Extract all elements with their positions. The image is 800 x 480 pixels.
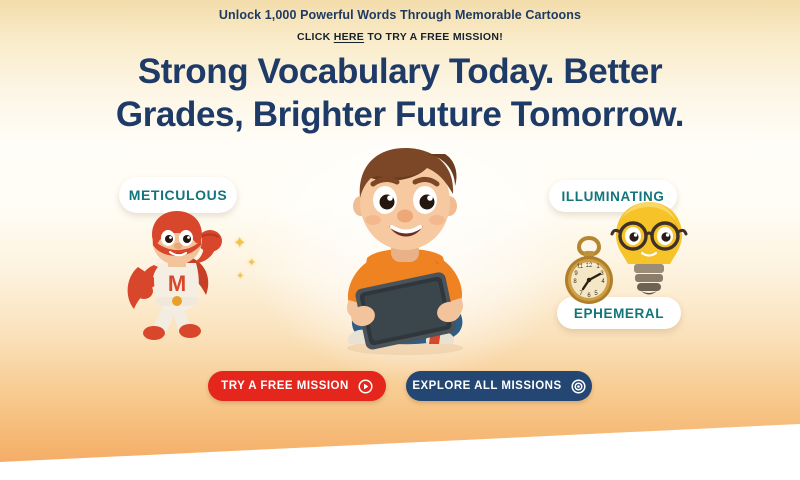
chest-letter: M (168, 271, 186, 296)
sparkle-icon: ✦ (236, 272, 244, 282)
sparkle-icon: ✦ (247, 258, 256, 269)
superhero-mascot-illustration: M (120, 205, 240, 340)
try-a-free-mission-label: TRY A FREE MISSION (221, 380, 349, 392)
lightbulb-with-glasses-illustration (608, 198, 690, 303)
explore-all-missions-label: EXPLORE ALL MISSIONS (412, 380, 561, 392)
click-here-suffix: TO TRY A FREE MISSION! (364, 31, 503, 43)
try-a-free-mission-button[interactable]: TRY A FREE MISSION (208, 371, 386, 401)
page-title: Strong Vocabulary Today. Better Grades, … (60, 50, 740, 136)
announcement-eyebrow: Unlock 1,000 Powerful Words Through Memo… (0, 8, 800, 22)
word-bubble-label: EPHEMERAL (574, 306, 664, 321)
sparkle-icon: ✦ (233, 236, 246, 252)
headline-line-1: Strong Vocabulary Today. Better (138, 52, 662, 91)
explore-all-missions-button[interactable]: EXPLORE ALL MISSIONS (406, 371, 592, 401)
pocket-watch-illustration: 12 3 6 9 1 4 5 7 8 11 (558, 236, 620, 306)
word-bubble-label: METICULOUS (129, 187, 228, 203)
hero-page: Unlock 1,000 Powerful Words Through Memo… (0, 0, 800, 480)
click-here-line: CLICK HERE TO TRY A FREE MISSION! (0, 31, 800, 43)
boy-with-tablet-illustration (315, 140, 495, 355)
svg-text:12: 12 (586, 263, 593, 269)
play-circle-icon (358, 379, 373, 394)
cta-button-row: TRY A FREE MISSION EXPLORE ALL MISSIONS (0, 371, 800, 401)
target-icon (571, 379, 586, 394)
click-here-link[interactable]: HERE (334, 31, 364, 43)
click-here-prefix: CLICK (297, 31, 334, 43)
headline-line-2: Grades, Brighter Future Tomorrow. (60, 93, 740, 136)
